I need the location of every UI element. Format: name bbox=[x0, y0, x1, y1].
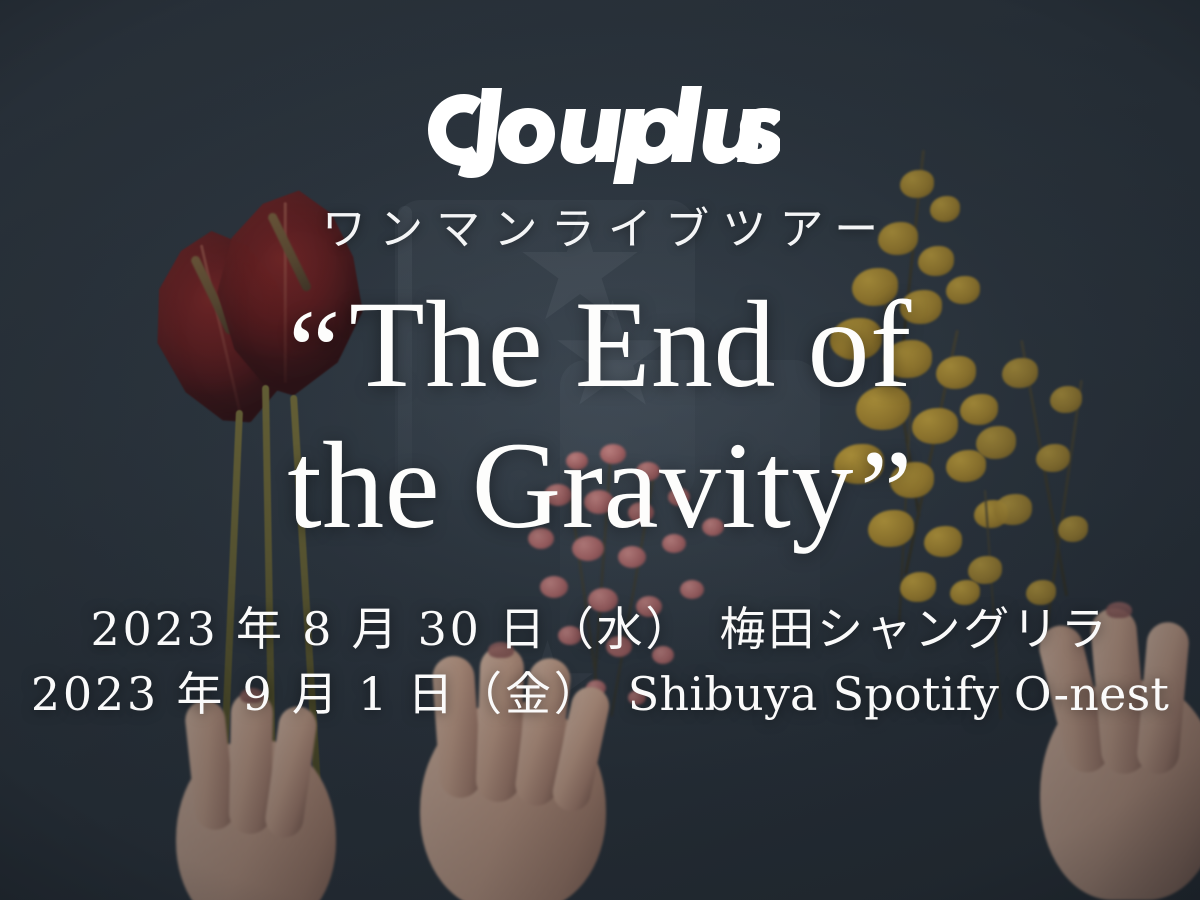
youplus-wordmark-icon bbox=[420, 80, 780, 184]
show-venue: Shibuya Spotify O-nest bbox=[628, 667, 1169, 721]
tour-subtitle: ワンマンライブツアー bbox=[309, 208, 892, 252]
show-date: 2023 年 8 月 30 日（水） bbox=[90, 602, 694, 656]
youplus-logo bbox=[420, 80, 780, 184]
title-line-1: The End of bbox=[349, 276, 912, 413]
schedule-row: 2023 年 9 月 1 日（金）Shibuya Spotify O-nest bbox=[0, 662, 1200, 727]
show-venue: 梅田シャングリラ bbox=[719, 602, 1109, 656]
show-date: 2023 年 9 月 1 日（金） bbox=[31, 667, 603, 721]
schedule-row: 2023 年 8 月 30 日（水）梅田シャングリラ bbox=[0, 597, 1200, 662]
tour-title: “The End of the Gravity” bbox=[0, 274, 1200, 557]
poster-content: ワンマンライブツアー “The End of the Gravity” 2023… bbox=[0, 0, 1200, 900]
event-poster: ワンマンライブツアー “The End of the Gravity” 2023… bbox=[0, 0, 1200, 900]
quote-close-mark: ” bbox=[860, 426, 913, 557]
schedule-list: 2023 年 8 月 30 日（水）梅田シャングリラ 2023 年 9 月 1 … bbox=[0, 597, 1200, 728]
quote-open-mark: “ bbox=[288, 285, 341, 416]
title-line-2: the Gravity bbox=[287, 417, 854, 554]
